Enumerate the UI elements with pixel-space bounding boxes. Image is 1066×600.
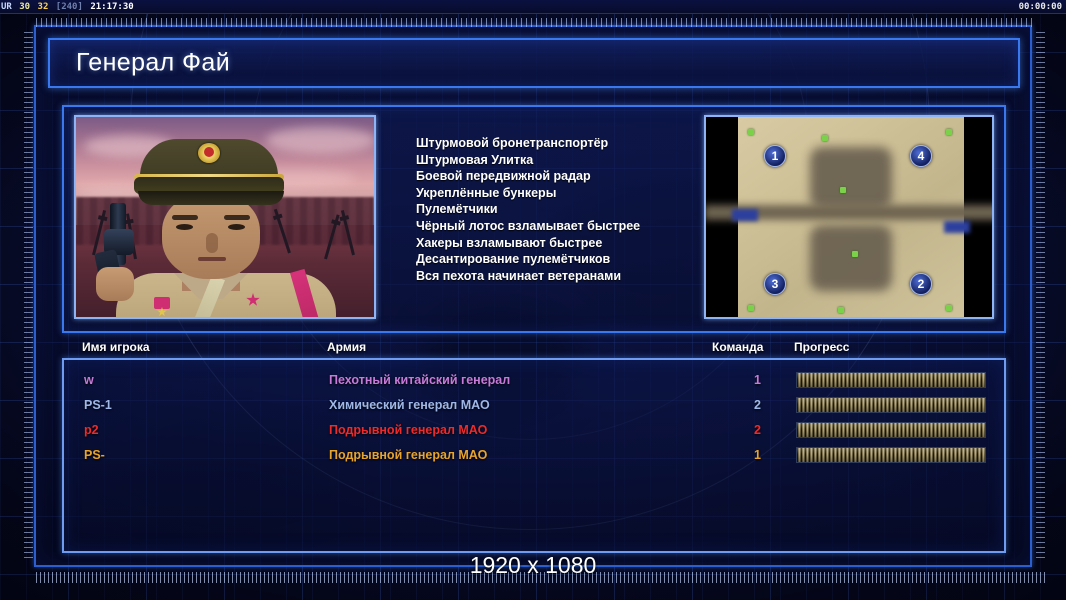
- minimap-water-right: [944, 221, 970, 233]
- minimap-water-left: [732, 209, 758, 221]
- status-timer: 00:00:00: [1019, 0, 1062, 14]
- title-panel: Генерал Фай: [48, 38, 1020, 88]
- minimap[interactable]: 1 4 3 2: [704, 115, 994, 319]
- portrait-cap-emblem: [198, 143, 220, 163]
- portrait-hand: [96, 267, 134, 301]
- table-row[interactable]: PS- Подрывной генерал МАО 1: [64, 443, 1004, 468]
- portrait-mouth: [198, 257, 226, 261]
- start-position-label: 1: [772, 149, 779, 163]
- status-label: UR: [0, 2, 13, 12]
- minimap-terrain: 1 4 3 2: [738, 117, 964, 317]
- player-army: Пехотный китайский генерал: [329, 368, 510, 393]
- resolution-label: 1920 x 1080: [0, 552, 1066, 579]
- progress-sheen: [797, 448, 985, 462]
- minimap-start-position-2[interactable]: 2: [910, 273, 932, 295]
- player-army: Подрывной генерал МАО: [329, 418, 487, 443]
- general-info-panel: Штурмовой бронетранспортёр Штурмовая Ули…: [62, 105, 1006, 333]
- minimap-start-position-4[interactable]: 4: [910, 145, 932, 167]
- progress-sheen: [797, 423, 985, 437]
- column-header-player-name: Имя игрока: [82, 340, 150, 354]
- minimap-supply: [946, 305, 952, 311]
- player-progress-bar: [796, 397, 986, 413]
- minimap-supply: [852, 251, 858, 257]
- player-name: PS-: [84, 443, 105, 468]
- portrait-nose: [206, 233, 218, 253]
- column-header-team: Команда: [712, 340, 763, 354]
- player-progress-bar: [796, 422, 986, 438]
- player-name: PS-1: [84, 393, 112, 418]
- ruler-right: [1036, 32, 1045, 560]
- player-team: 1: [739, 443, 761, 468]
- player-team: 2: [739, 393, 761, 418]
- ability-item: Штурмовой бронетранспортёр: [416, 135, 726, 152]
- player-progress-bar: [796, 447, 986, 463]
- ability-item: Хакеры взламывают быстрее: [416, 235, 726, 252]
- minimap-supply: [748, 129, 754, 135]
- column-header-progress: Прогресс: [794, 340, 849, 354]
- page-title: Генерал Фай: [76, 49, 230, 78]
- minimap-supply: [838, 307, 844, 313]
- portrait-brow-right: [224, 215, 250, 220]
- table-row[interactable]: w Пехотный китайский генерал 1: [64, 368, 1004, 393]
- minimap-supply: [748, 305, 754, 311]
- portrait-face: [162, 193, 260, 279]
- minimap-supply: [946, 129, 952, 135]
- player-table: w Пехотный китайский генерал 1 PS-1 Хими…: [62, 358, 1006, 553]
- portrait-cap-brim: [138, 191, 284, 205]
- progress-sheen: [797, 398, 985, 412]
- player-progress-bar: [796, 372, 986, 388]
- ability-item: Вся пехота начинает ветеранами: [416, 268, 726, 285]
- player-army: Подрывной генерал МАО: [329, 443, 487, 468]
- table-row[interactable]: PS-1 Химический генерал МАО 2: [64, 393, 1004, 418]
- player-army: Химический генерал МАО: [329, 393, 490, 418]
- minimap-start-position-3[interactable]: 3: [764, 273, 786, 295]
- portrait-eye-left: [176, 224, 193, 230]
- ability-item: Укреплённые бункеры: [416, 185, 726, 202]
- minimap-supply: [822, 135, 828, 141]
- table-row[interactable]: p2 Подрывной генерал МАО 2: [64, 418, 1004, 443]
- progress-sheen: [797, 373, 985, 387]
- player-table-header: Имя игрока Армия Команда Прогресс: [62, 340, 1006, 358]
- ability-list: Штурмовой бронетранспортёр Штурмовая Ули…: [416, 135, 726, 284]
- player-name: p2: [84, 418, 99, 443]
- ability-item: Чёрный лотос взламывает быстрее: [416, 218, 726, 235]
- minimap-supply: [840, 187, 846, 193]
- general-portrait: [74, 115, 376, 319]
- ability-item: Десантирование пулемётчиков: [416, 251, 726, 268]
- status-value-1: 30: [18, 2, 31, 12]
- portrait-brow-left: [172, 215, 198, 220]
- portrait-medal: [154, 297, 170, 309]
- portrait-eye-right: [228, 224, 245, 230]
- start-position-label: 2: [918, 277, 925, 291]
- minimap-plateau-bottom: [810, 225, 892, 291]
- status-clock: 21:17:30: [89, 2, 134, 12]
- player-team: 2: [739, 418, 761, 443]
- ruler-top: [36, 18, 1032, 27]
- ability-item: Боевой передвижной радар: [416, 168, 726, 185]
- ruler-left: [24, 32, 33, 560]
- minimap-start-position-1[interactable]: 1: [764, 145, 786, 167]
- start-position-label: 4: [918, 149, 925, 163]
- status-value-3: [240]: [55, 2, 84, 12]
- player-team: 1: [739, 368, 761, 393]
- screen-root: UR 30 32 [240] 21:17:30 00:00:00 Генерал…: [0, 0, 1066, 600]
- start-position-label: 3: [772, 277, 779, 291]
- minimap-plateau-top: [810, 147, 892, 209]
- column-header-army: Армия: [327, 340, 366, 354]
- player-name: w: [84, 368, 94, 393]
- portrait-cloud-2: [266, 127, 374, 153]
- top-status-bar: UR 30 32 [240] 21:17:30 00:00:00: [0, 0, 1066, 14]
- ability-item: Штурмовая Улитка: [416, 152, 726, 169]
- status-value-2: 32: [37, 2, 50, 12]
- ability-item: Пулемётчики: [416, 201, 726, 218]
